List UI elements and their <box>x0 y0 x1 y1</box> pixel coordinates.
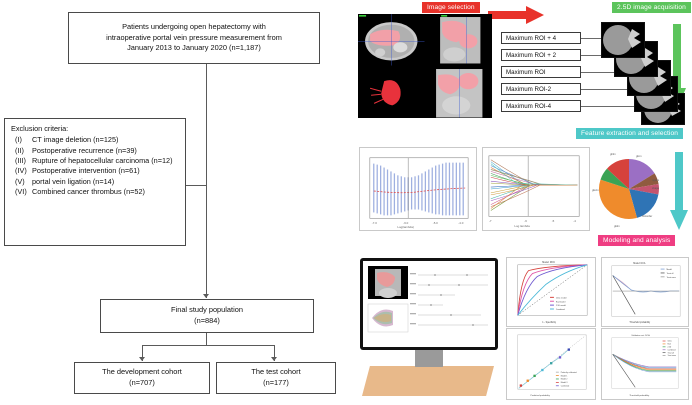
roi-label-minus-4: Maximum ROI-4 <box>501 100 581 112</box>
svg-text:shape: shape <box>652 186 660 190</box>
svg-text:Treat all: Treat all <box>667 351 674 354</box>
svg-text:Model: ROC: Model: ROC <box>542 262 555 264</box>
chart-roc-curve: Model: ROC 1 - Specificity Clinic model … <box>506 257 596 327</box>
development-line-2: (n=707) <box>102 378 182 389</box>
roi-label-plus-4: Maximum ROI + 4 <box>501 32 581 44</box>
exclusion-text: Rupture of hepatocellular carcinoma (n=1… <box>32 156 179 166</box>
svg-text:2.5D model: 2.5D model <box>556 305 567 307</box>
svg-text:Treat all: Treat all <box>667 272 675 275</box>
exclusion-text: portal vein ligation (n=14) <box>32 177 179 187</box>
desk-surface <box>362 366 494 396</box>
final-line-2: (n=884) <box>171 316 243 327</box>
svg-text:Rad: Rad <box>667 344 670 346</box>
monitor-screen <box>363 261 495 347</box>
exclusion-item: (IV) Postoperative intervention (n=61) <box>15 166 179 176</box>
roi-label-plus-2: Maximum ROI + 2 <box>501 49 581 61</box>
flow-arrow-to-development <box>139 357 145 361</box>
svg-text:-6: -6 <box>524 219 527 223</box>
flow-connector-split-stem <box>206 333 207 345</box>
roi-label-minus-2: Maximum ROI-2 <box>501 83 581 95</box>
roi-label-text: Maximum ROI <box>506 69 546 76</box>
svg-text:ngtdm: ngtdm <box>652 178 659 182</box>
svg-text:Clinic: Clinic <box>667 341 671 343</box>
flow-box-exclusion-criteria: Exclusion criteria: (I) CT image deletio… <box>4 118 186 246</box>
stage-badge-acquisition: 2.5D image acquisition <box>612 2 691 13</box>
roi-label-text: Maximum ROI-2 <box>506 86 551 93</box>
svg-text:Clinic model: Clinic model <box>556 297 567 299</box>
svg-text:gldm: gldm <box>614 224 620 228</box>
ct-axial-slice <box>358 14 425 66</box>
roi-connector <box>581 89 631 90</box>
test-line-2: (n=177) <box>251 378 300 389</box>
exclusion-item: (V) portal vein ligation (n=14) <box>15 177 179 187</box>
flow-box-test-cohort: The test cohort (n=177) <box>216 362 336 394</box>
ct-coronal-slice <box>426 67 493 119</box>
ct-viewer-grid <box>358 14 492 118</box>
svg-text:glrlm: glrlm <box>610 152 616 156</box>
flow-arrow-to-test <box>271 357 277 361</box>
exclusion-title: Exclusion criteria: <box>11 124 179 134</box>
test-line-1: The test cohort <box>251 367 300 378</box>
svg-text:Model 2: Model 2 <box>561 379 568 381</box>
flow-box-final-population: Final study population (n=884) <box>100 299 314 333</box>
svg-text:Perfectly calibrated: Perfectly calibrated <box>561 371 577 374</box>
roi-label-text: Maximum ROI + 2 <box>506 52 556 59</box>
exclusion-item: (III) Rupture of hepatocellular carcinom… <box>15 156 179 166</box>
svg-text:1 - Specificity: 1 - Specificity <box>542 321 557 324</box>
stage-label: Image selection <box>427 4 475 11</box>
flow-arrow-to-final <box>203 294 209 298</box>
exclusion-numeral: (VI) <box>15 187 32 197</box>
final-line-1: Final study population <box>171 305 243 316</box>
svg-text:Validation set: DCA: Validation set: DCA <box>631 334 650 337</box>
chart-feature-pie: glcm ngtdm shape firstorder gldm glszm g… <box>592 147 666 231</box>
monitor <box>360 258 498 350</box>
enrollment-line-2: intraoperative portal vein pressure meas… <box>106 33 282 44</box>
svg-text:Rad model: Rad model <box>556 301 566 303</box>
svg-text:Combined: Combined <box>667 349 675 351</box>
exclusion-numeral: (IV) <box>15 166 32 176</box>
svg-text:Predicted probability: Predicted probability <box>530 394 550 397</box>
roi-label-text: Maximum ROI-4 <box>506 103 551 110</box>
svg-text:Model: Model <box>667 269 673 271</box>
svg-text:Combined: Combined <box>561 386 569 388</box>
svg-text:-4.0: -4.0 <box>458 221 463 225</box>
svg-text:Model 1: Model 1 <box>561 375 568 377</box>
flow-box-enrollment: Patients undergoing open hepatectomy wit… <box>68 12 320 64</box>
svg-text:-4: -4 <box>573 219 576 223</box>
svg-text:firstorder: firstorder <box>642 214 652 218</box>
exclusion-numeral: (I) <box>15 135 32 145</box>
stage-label: Feature extraction and selection <box>581 130 678 137</box>
svg-text:Combined: Combined <box>556 309 565 311</box>
exclusion-numeral: (III) <box>15 156 32 166</box>
flow-connector-spine <box>206 64 207 298</box>
svg-text:Model: DCA: Model: DCA <box>633 262 646 265</box>
roi-label-text: Maximum ROI + 4 <box>506 35 556 42</box>
exclusion-item: (VI) Combined cancer thrombus (n=52) <box>15 187 179 197</box>
chart-lasso-path: -7-6 -5-4 Log lambda <box>482 147 590 231</box>
svg-text:-7: -7 <box>489 219 492 223</box>
svg-text:-5.0: -5.0 <box>433 221 438 225</box>
enrollment-line-3: January 2013 to January 2020 (n=1,187) <box>106 43 282 54</box>
svg-text:glszm: glszm <box>592 188 599 192</box>
exclusion-text: Postoperative recurrence (n=39) <box>32 146 179 156</box>
exclusion-text: Postoperative intervention (n=61) <box>32 166 179 176</box>
svg-text:Treat none: Treat none <box>667 276 676 279</box>
roi-slice-1 <box>601 22 645 58</box>
flow-connector-split <box>142 345 274 346</box>
exclusion-numeral: (II) <box>15 146 32 156</box>
development-line-1: The development cohort <box>102 367 182 378</box>
chart-calibration-curve: Perfectly calibrated Model 1 Model 2 Mod… <box>506 328 596 400</box>
svg-text:-7.0: -7.0 <box>372 221 377 225</box>
stage-label: 2.5D image acquisition <box>617 4 686 11</box>
stage-badge-feature-extraction: Feature extraction and selection <box>576 128 683 139</box>
roi-connector <box>581 106 639 107</box>
exclusion-text: CT image deletion (n=125) <box>32 135 179 145</box>
roi-label-maximum: Maximum ROI <box>501 66 581 78</box>
chart-dca-curve: Model: DCA Threshold probability Model T… <box>601 257 689 327</box>
enrollment-line-1: Patients undergoing open hepatectomy wit… <box>106 22 282 33</box>
svg-text:Threshold probability: Threshold probability <box>629 321 651 324</box>
exclusion-text: Combined cancer thrombus (n=52) <box>32 187 179 197</box>
ct-sagittal-slice <box>426 14 493 66</box>
exclusion-item: (II) Postoperative recurrence (n=39) <box>15 146 179 156</box>
flow-connector-exclusion <box>186 185 207 186</box>
stage-label: Modeling and analysis <box>603 237 670 244</box>
ct-3d-render <box>358 67 425 119</box>
chart-learning-curve: Validation set: DCA Threshold probabilit… <box>601 328 689 400</box>
svg-text:Threshold probability: Threshold probability <box>629 394 650 397</box>
monitor-stand <box>415 350 443 367</box>
svg-text:Treat none: Treat none <box>667 354 675 357</box>
exclusion-item: (I) CT image deletion (n=125) <box>15 135 179 145</box>
svg-text:Log(lambda): Log(lambda) <box>397 225 413 229</box>
exclusion-numeral: (V) <box>15 177 32 187</box>
svg-text:Log lambda: Log lambda <box>514 224 530 228</box>
svg-text:glcm: glcm <box>636 154 641 158</box>
flow-box-development-cohort: The development cohort (n=707) <box>74 362 210 394</box>
stage-badge-image-selection: Image selection <box>422 2 480 13</box>
svg-text:-5: -5 <box>552 219 555 223</box>
stage-badge-modeling: Modeling and analysis <box>598 235 675 246</box>
red-right-arrow-icon <box>488 6 544 24</box>
teal-down-arrow-icon <box>670 152 688 230</box>
figure-canvas: Patients undergoing open hepatectomy wit… <box>0 0 692 405</box>
chart-lasso-cv: -7.0-6.0 -5.0-4.0 Log(lambda) <box>359 147 477 231</box>
svg-text:Model 3: Model 3 <box>561 382 568 384</box>
